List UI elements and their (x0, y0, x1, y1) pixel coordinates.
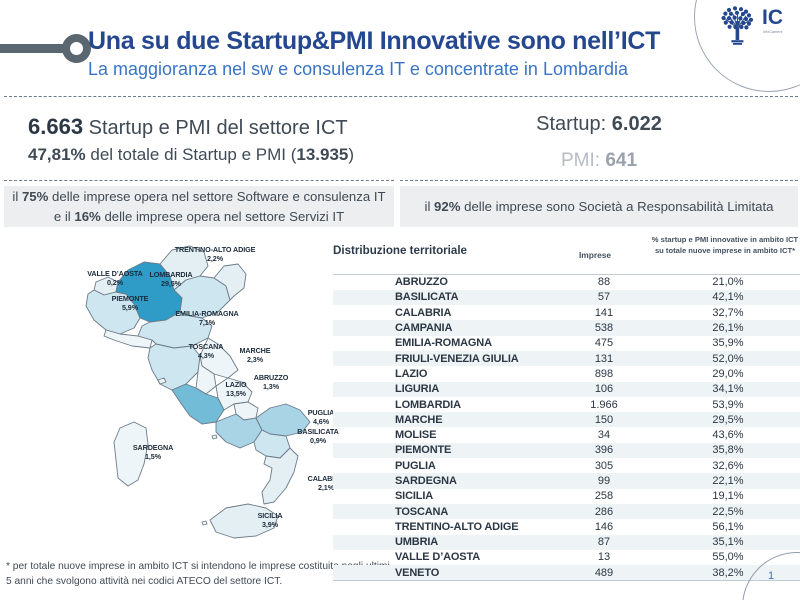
page-number: 1 (768, 570, 774, 582)
page-number-clip: 1 (0, 0, 800, 600)
slide-canvas: Una su due Startup&PMI Innovative sono n… (0, 0, 800, 600)
